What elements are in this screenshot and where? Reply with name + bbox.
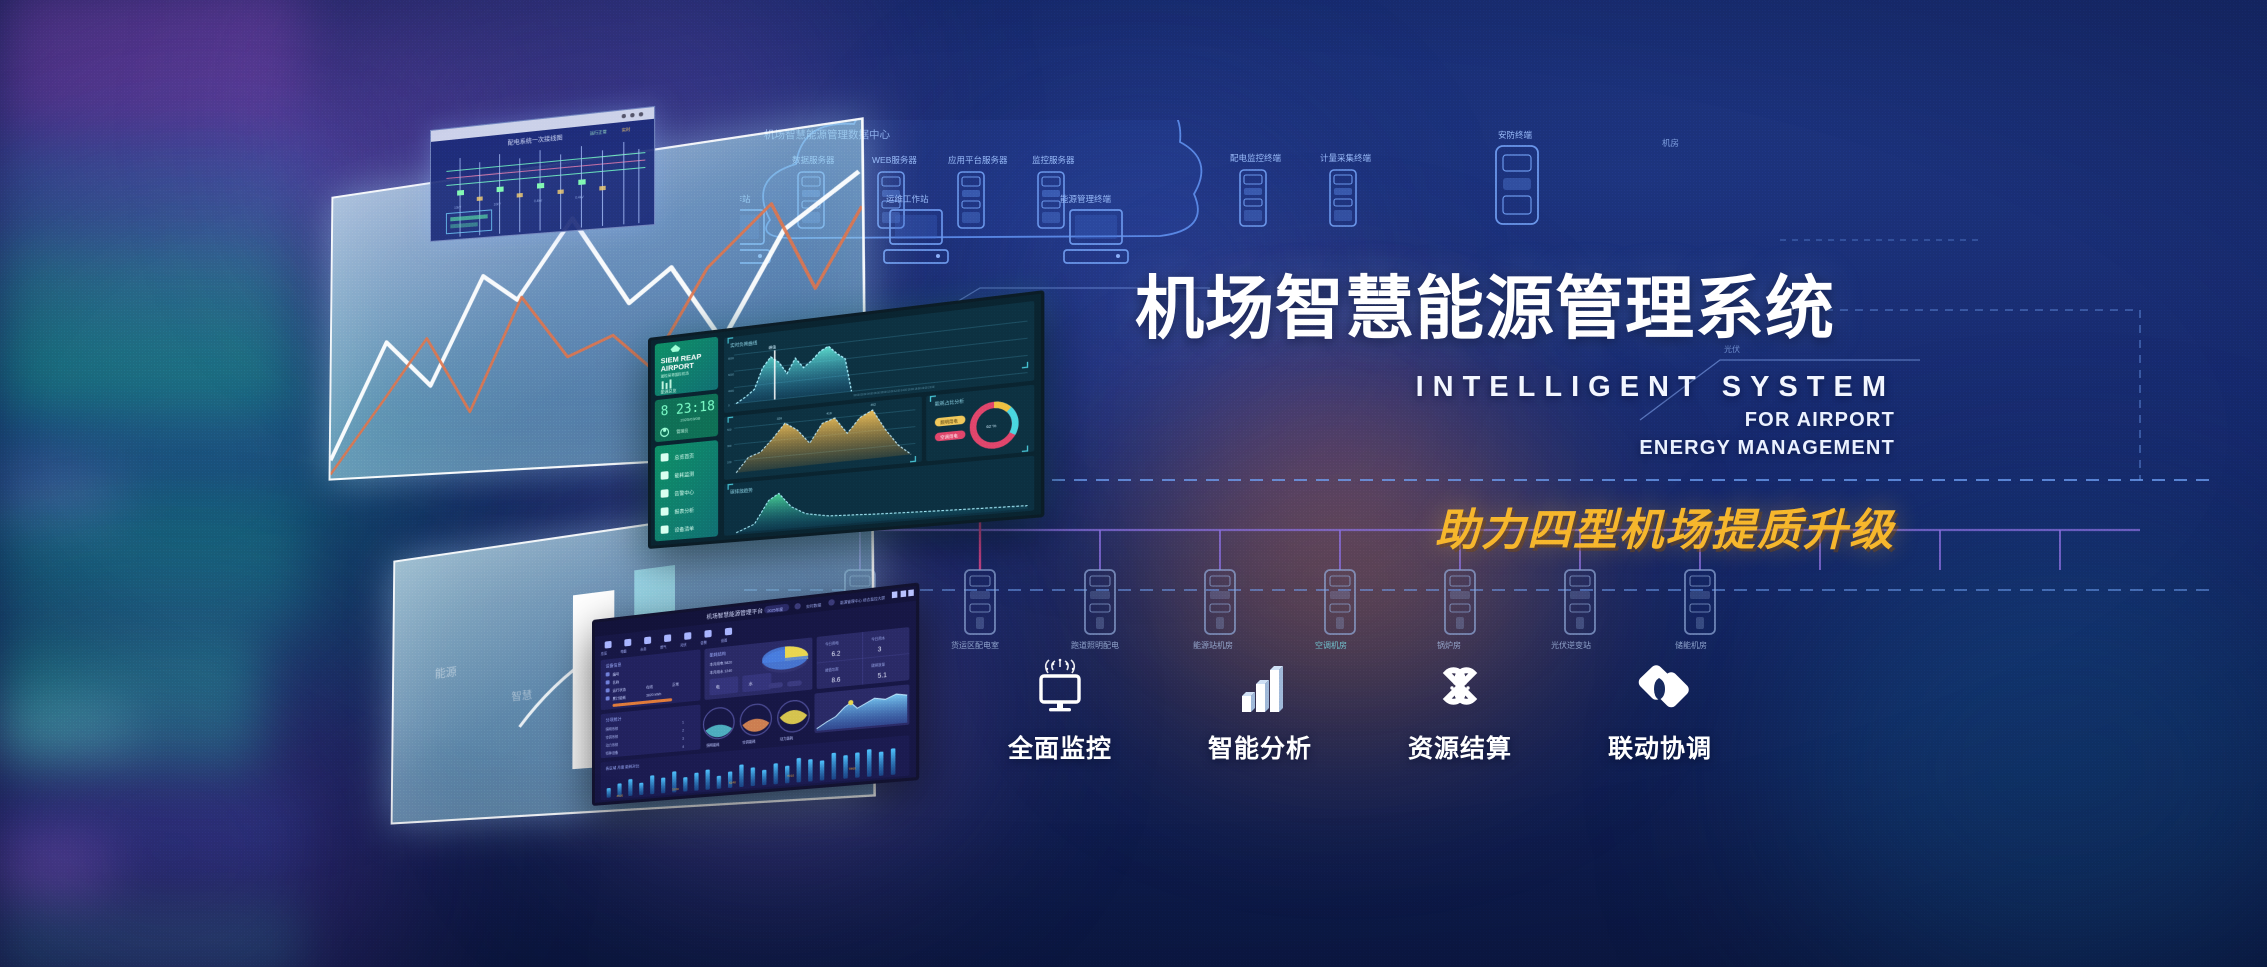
svg-text:4520: 4520: [616, 793, 623, 798]
resource-settlement-icon: [1431, 655, 1489, 717]
feature-label: 全面监控: [1008, 729, 1112, 765]
svg-text:6240: 6240: [729, 780, 736, 785]
svg-text:4000: 4000: [728, 389, 734, 394]
scada-schematic-panel[interactable]: 配电系统一次接线图 运行正常 实时: [430, 106, 655, 242]
svg-text:2: 2: [682, 728, 684, 732]
svg-text:7860: 7860: [849, 766, 857, 771]
svg-text:告警: 告警: [700, 639, 707, 645]
svg-text:6000: 6000: [728, 372, 734, 377]
svg-text:5.1: 5.1: [878, 673, 888, 680]
svg-text:实时: 实时: [622, 126, 631, 132]
svg-text:水: 水: [749, 681, 753, 687]
feature-label: 联动协调: [1608, 729, 1712, 765]
svg-text:燃气: 燃气: [660, 644, 667, 650]
feature-list: 全面监控 智能分析: [960, 655, 1760, 765]
tagline: 助力四型机场提质升级: [1135, 494, 1895, 558]
svg-text:418: 418: [826, 411, 832, 416]
svg-text:正常: 正常: [672, 681, 679, 687]
svg-text:智慧: 智慧: [511, 688, 532, 704]
svg-text:4: 4: [682, 745, 684, 749]
svg-text:设置: 设置: [721, 637, 728, 643]
svg-text:500: 500: [727, 427, 732, 432]
svg-text:名称: 名称: [613, 679, 620, 685]
svg-text:5180: 5180: [672, 787, 679, 792]
scada-schematic-svg: 配电系统一次接线图 运行正常 实时: [431, 107, 654, 241]
svg-text:电能: 电能: [620, 648, 627, 654]
feature-item-settlement[interactable]: 资源结算: [1360, 655, 1560, 765]
feature-item-analysis[interactable]: 智能分析: [1160, 655, 1360, 765]
energy-analysis-dashboard-svg: 机场智慧能源管理平台 2025年度 实时数据 能源管理中心 综合监控大屏 总览 …: [595, 586, 916, 803]
svg-text:峰值: 峰值: [769, 344, 777, 350]
svg-text:452: 452: [871, 402, 877, 407]
svg-text:10kV: 10kV: [454, 205, 462, 210]
svg-text:能源: 能源: [435, 665, 457, 681]
svg-text:326: 326: [777, 416, 782, 421]
svg-text:1: 1: [682, 720, 684, 724]
feature-label: 智能分析: [1208, 729, 1312, 765]
svg-text:6.2: 6.2: [832, 651, 841, 658]
feature-item-monitoring[interactable]: 全面监控: [960, 655, 1160, 765]
svg-text:水务: 水务: [640, 646, 647, 652]
svg-text:300: 300: [727, 444, 732, 449]
svg-text:10kV: 10kV: [494, 202, 502, 207]
feature-label: 资源结算: [1408, 729, 1512, 765]
svg-text:总览: 总览: [601, 650, 607, 656]
svg-text:0.4kV: 0.4kV: [534, 198, 543, 203]
background-gradient: [0, 0, 2267, 967]
svg-text:电: 电: [716, 684, 720, 690]
bar-chart-icon: [1232, 655, 1288, 717]
svg-text:7010: 7010: [787, 773, 794, 778]
energy-analysis-dashboard[interactable]: 机场智慧能源管理平台 2025年度 实时数据 能源管理中心 综合监控大屏 总览 …: [592, 582, 919, 806]
svg-text:8.6: 8.6: [832, 677, 842, 684]
monitor-icon: [1031, 655, 1089, 717]
left-bokeh-panel: [0, 0, 340, 967]
svg-text:0.4kV: 0.4kV: [575, 195, 584, 200]
svg-text:100: 100: [727, 460, 732, 465]
subtitle-line-1: FOR AIRPORT: [1135, 409, 1895, 432]
headline-block: 机场智慧能源管理系统 INTELLIGENT SYSTEM FOR AIRPOR…: [1135, 272, 1895, 558]
svg-text:3: 3: [682, 737, 684, 741]
subtitle-english: INTELLIGENT SYSTEM: [1135, 371, 1895, 404]
subtitle-line-2: ENERGY MANAGEMENT: [1135, 437, 1895, 460]
svg-text:光伏: 光伏: [680, 642, 687, 648]
svg-text:62 %: 62 %: [986, 423, 997, 429]
svg-text:8000: 8000: [728, 356, 734, 361]
svg-text:编号: 编号: [613, 671, 620, 677]
airport-energy-dashboard-svg: SIEM REAP AIRPORT 暹粒吴哥国际机场 能源总览 8 23:18 …: [651, 294, 1041, 546]
svg-text:在线: 在线: [646, 684, 653, 690]
page-title: 机场智慧能源管理系统: [1135, 272, 1895, 345]
banner-root: 机场智慧能源管理数据中心 数据服务器 WEB服务器 应用平台服务器 监控服务器 …: [0, 0, 2267, 967]
link-coordination-icon: [1629, 655, 1691, 717]
feature-item-coordination[interactable]: 联动协调: [1560, 655, 1760, 765]
